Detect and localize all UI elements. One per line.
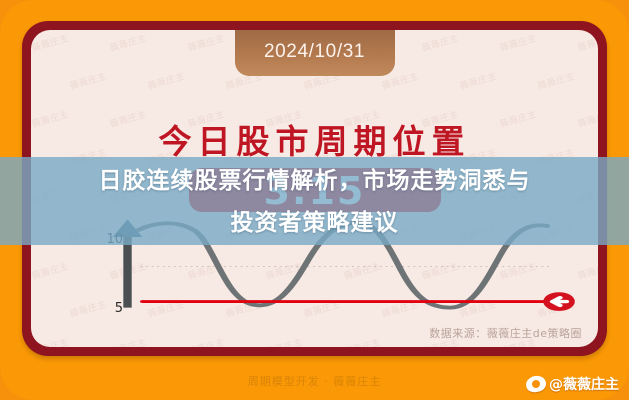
watermark-tile: 薇薇庄主 xyxy=(186,335,226,347)
overlay-title: 日胶连续股票行情解析，市场走势洞悉与 投资者策略建议 xyxy=(0,160,629,244)
watermark-tile: 薇薇庄主 xyxy=(536,69,576,92)
overlay-title-line1: 日胶连续股票行情解析，市场走势洞悉与 xyxy=(22,160,607,202)
watermark-tile: 薇薇庄主 xyxy=(108,31,148,54)
weibo-handle: @薇薇庄主 xyxy=(526,374,619,394)
watermark-tile: 薇薇庄主 xyxy=(498,31,538,54)
ytick-5: 5 xyxy=(97,301,123,316)
watermark-tile: 薇薇庄主 xyxy=(186,31,226,54)
watermark-tile: 薇薇庄主 xyxy=(146,69,186,92)
screenshot-root: 薇薇庄主薇薇庄主薇薇庄主薇薇庄主薇薇庄主薇薇庄主薇薇庄主薇薇庄主薇薇庄主薇薇庄主… xyxy=(0,0,629,400)
current-position-marker-icon xyxy=(543,292,575,311)
overlay-title-line2: 投资者策略建议 xyxy=(22,202,607,244)
watermark-tile: 薇薇庄主 xyxy=(68,69,108,92)
watermark-tile: 薇薇庄主 xyxy=(31,31,70,54)
date-badge: 2024/10/31 xyxy=(235,30,395,76)
watermark-tile: 薇薇庄主 xyxy=(576,31,598,54)
weibo-handle-label: @薇薇庄主 xyxy=(549,374,619,394)
page-title: 今日股市周期位置 xyxy=(31,115,598,163)
watermark-tile: 薇薇庄主 xyxy=(31,335,70,347)
weibo-eye-icon xyxy=(525,374,548,394)
watermark-tile: 薇薇庄主 xyxy=(420,31,460,54)
date-badge-label: 2024/10/31 xyxy=(264,41,365,63)
watermark-tile: 薇薇庄主 xyxy=(342,335,382,347)
watermark-tile: 薇薇庄主 xyxy=(108,335,148,347)
watermark-tile: 薇薇庄主 xyxy=(264,335,304,347)
watermark-tile: 薇薇庄主 xyxy=(458,69,498,92)
data-source-note: 数据来源：薇薇庄主de策略圈 xyxy=(429,325,582,341)
